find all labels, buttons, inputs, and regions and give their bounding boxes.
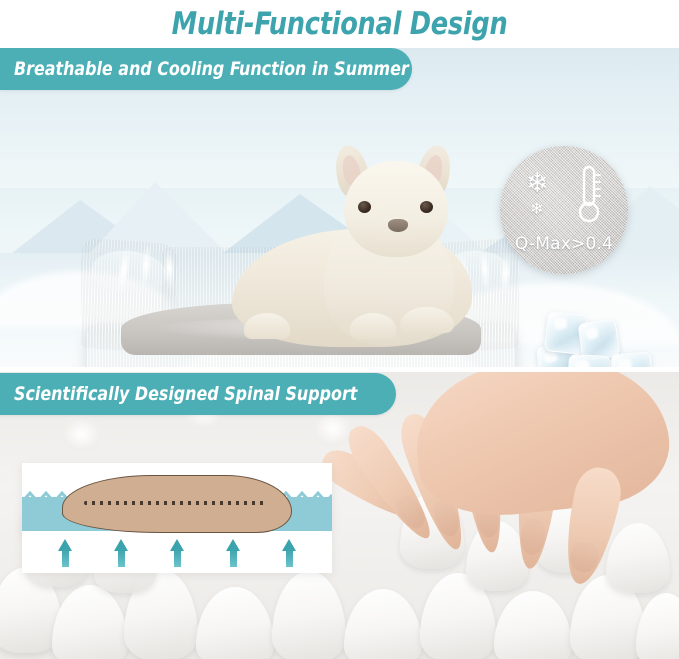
french-bulldog — [232, 143, 497, 355]
hand-pressing-foam — [372, 371, 679, 621]
qmax-badge: ❄ ❄ Q-Max>0.4 — [500, 146, 628, 274]
diagram-dog-silhouette — [62, 475, 292, 533]
panel-cooling: 🐕 COZY KISS ❄ ❄ — [0, 48, 679, 367]
support-arrow — [170, 539, 184, 567]
arrow-shaft — [62, 549, 69, 567]
spinal-support-diagram — [22, 463, 332, 573]
hand-back — [409, 371, 675, 524]
fingernail — [519, 517, 546, 556]
panel-divider — [0, 367, 679, 372]
banner-spinal-label: Scientifically Designed Spinal Support — [14, 383, 357, 405]
page-title: Multi-Functional Design — [172, 6, 508, 42]
infographic-page: Multi-Functional Design — [0, 0, 679, 659]
dog-eye-right — [420, 201, 433, 213]
support-arrow — [114, 539, 128, 567]
snowflake-icon: ❄ — [526, 170, 549, 197]
arrow-shaft — [286, 549, 293, 567]
panel-spinal: Scientifically Designed Spinal Support — [0, 371, 679, 659]
arrow-shaft — [174, 549, 181, 567]
support-arrow — [226, 539, 240, 567]
thermometer-icon — [574, 164, 604, 231]
banner-cooling-label: Breathable and Cooling Function in Summe… — [14, 58, 409, 80]
arrow-shaft — [230, 549, 237, 567]
diagram-spine-line — [84, 501, 268, 505]
qmax-label: Q-Max>0.4 — [515, 234, 613, 254]
dog-eye-left — [358, 201, 371, 213]
thumbnail — [567, 539, 601, 575]
page-header: Multi-Functional Design — [0, 0, 679, 47]
ice-cube — [567, 354, 611, 367]
support-arrow — [58, 539, 72, 567]
ice-cubes — [530, 303, 670, 367]
ice-cube — [611, 352, 654, 367]
snowflake-icon: ❄ — [530, 202, 543, 218]
support-arrow — [282, 539, 296, 567]
dog-paw — [244, 313, 290, 339]
arrow-shaft — [118, 549, 125, 567]
banner-spinal: Scientifically Designed Spinal Support — [0, 373, 396, 415]
dog-paw — [350, 313, 396, 339]
banner-cooling: Breathable and Cooling Function in Summe… — [0, 48, 412, 90]
qmax-icon-group: ❄ ❄ — [500, 156, 628, 234]
